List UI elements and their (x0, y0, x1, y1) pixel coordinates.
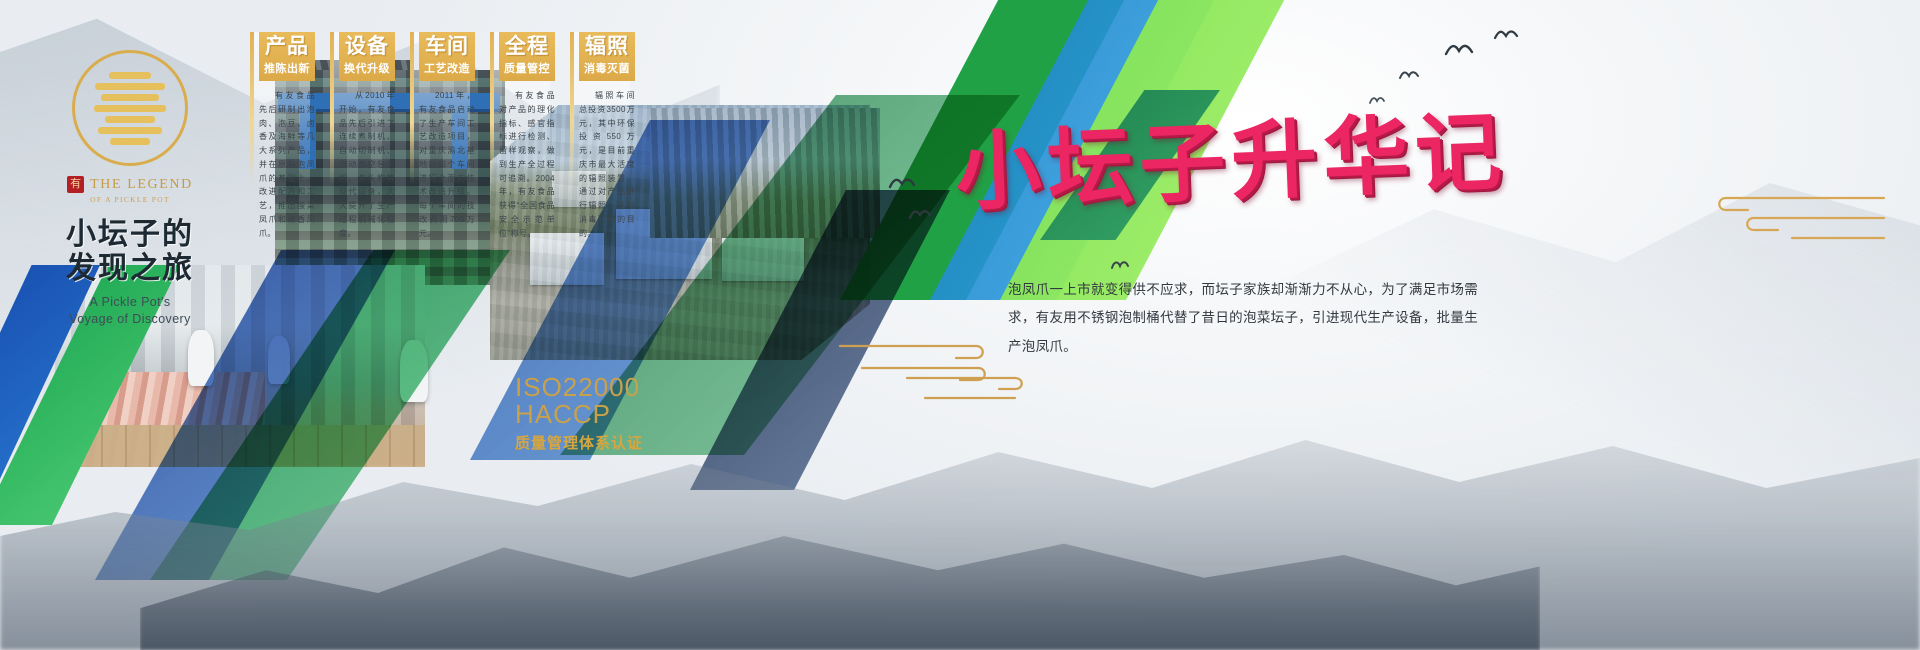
column-body: 有友食品对产品的理化指标、感官指标进行检测、留样观察，做到生产全过程可追溯。20… (499, 89, 555, 240)
info-column-irradiation[interactable]: 辐照 消毒灭菌 辐照车间总投资3500万元，其中环保投资550万元，是目前重庆市… (570, 32, 635, 240)
brand-cn-title-line1: 小坛子的 (30, 218, 230, 252)
building-block (530, 233, 604, 285)
column-header: 产品 推陈出新 (259, 32, 315, 81)
bird-icon (1444, 42, 1474, 63)
legend-en-text: THE LEGEND (90, 177, 193, 193)
cloud-swirl-icon (838, 334, 998, 382)
column-subheading: 换代升级 (343, 60, 391, 76)
seal-stroke (98, 127, 162, 134)
brand-en-title-line1: A Pickle Pot's (30, 294, 230, 311)
seal-stroke (105, 116, 155, 123)
column-header: 车间 工艺改造 (419, 32, 475, 81)
worker-figure (268, 336, 290, 384)
cert-label-cn: 质量管理体系认证 (515, 432, 643, 453)
worker-figure (400, 340, 428, 402)
column-heading: 全程 (503, 36, 551, 58)
info-columns: 产品 推陈出新 有友食品先后研制出泡肉、泡豆、卤香及海鲜等几大系列产品，并在原有… (250, 32, 635, 240)
info-column-product[interactable]: 产品 推陈出新 有友食品先后研制出泡肉、泡豆、卤香及海鲜等几大系列产品，并在原有… (250, 32, 315, 240)
brand-en-title-line2: Voyage of Discovery (30, 311, 230, 328)
brand-en-title: A Pickle Pot's Voyage of Discovery (30, 294, 230, 328)
seal-stroke (110, 138, 150, 145)
cloud-swirl-icon (905, 368, 1035, 408)
worker-figure (188, 330, 214, 386)
column-body: 2011年，有友食品启动了生产车间工艺改造项目，对重庆渝北基地的四个车间进行全面… (419, 89, 475, 240)
seal-stroke (94, 105, 166, 112)
certification-block: ISO22000 HACCP 质量管理体系认证 (515, 374, 643, 453)
legend-sub-text: OF A PICKLE POT (30, 195, 230, 204)
cert-standard-line2: HACCP (515, 401, 643, 428)
cert-standard-line1: ISO22000 (515, 374, 643, 401)
cloud-swirl-icon (1696, 192, 1886, 250)
photo-city-skyline (650, 108, 880, 238)
bird-icon (888, 176, 916, 196)
intro-paragraph: 泡凤爪一上市就变得供不应求，而坛子家族却渐渐力不从心，为了满足市场需求，有友用不… (1008, 276, 1478, 362)
brand-logo-block: 有 THE LEGEND OF A PICKLE POT 小坛子的 发现之旅 A… (30, 50, 230, 328)
column-subheading: 推陈出新 (263, 60, 311, 76)
bird-icon (908, 208, 932, 226)
legend-wordmark: 有 THE LEGEND (30, 176, 230, 193)
red-chop-icon: 有 (67, 176, 84, 193)
mountain-ink-foreground (140, 460, 1540, 650)
page-title: 小坛子升华记 (953, 82, 1497, 228)
column-heading: 产品 (263, 36, 311, 58)
bird-icon (1493, 28, 1519, 47)
column-body: 有友食品先后研制出泡肉、泡豆、卤香及海鲜等几大系列产品，并在原有泡凤爪的基础上，… (259, 89, 315, 240)
info-column-equipment[interactable]: 设备 换代升级 从2010年开始，有友食品先后引进了连续煮制机、自动切制机、自动… (330, 32, 395, 240)
cleanroom-floor (55, 425, 425, 467)
column-body: 辐照车间总投资3500万元，其中环保投资550万元，是目前重庆市最大活度的辐照装… (579, 89, 635, 240)
banner-stage: 有 THE LEGEND OF A PICKLE POT 小坛子的 发现之旅 A… (0, 0, 1920, 650)
info-column-quality[interactable]: 全程 质量管控 有友食品对产品的理化指标、感官指标进行检测、留样观察，做到生产全… (490, 32, 555, 240)
column-subheading: 工艺改造 (423, 60, 471, 76)
brand-cn-title-line2: 发现之旅 (30, 252, 230, 286)
column-header: 辐照 消毒灭菌 (579, 32, 635, 81)
seal-stroke (95, 83, 165, 90)
seal-stroke (101, 94, 159, 101)
column-heading: 辐照 (583, 36, 631, 58)
brand-cn-title: 小坛子的 发现之旅 (30, 218, 230, 285)
info-column-workshop[interactable]: 车间 工艺改造 2011年，有友食品启动了生产车间工艺改造项目，对重庆渝北基地的… (410, 32, 475, 240)
column-subheading: 消毒灭菌 (583, 60, 631, 76)
column-header: 设备 换代升级 (339, 32, 395, 81)
column-heading: 设备 (343, 36, 391, 58)
column-header: 全程 质量管控 (499, 32, 555, 81)
bird-icon (1398, 68, 1420, 86)
circular-seal-icon (72, 50, 188, 166)
column-body: 从2010年开始，有友食品先后引进了连续煮制机、自动切制机、自动真空包装机、多头… (339, 89, 395, 240)
column-heading: 车间 (423, 36, 471, 58)
seal-stroke (109, 72, 151, 79)
column-subheading: 质量管控 (503, 60, 551, 76)
bird-icon (1110, 258, 1130, 276)
